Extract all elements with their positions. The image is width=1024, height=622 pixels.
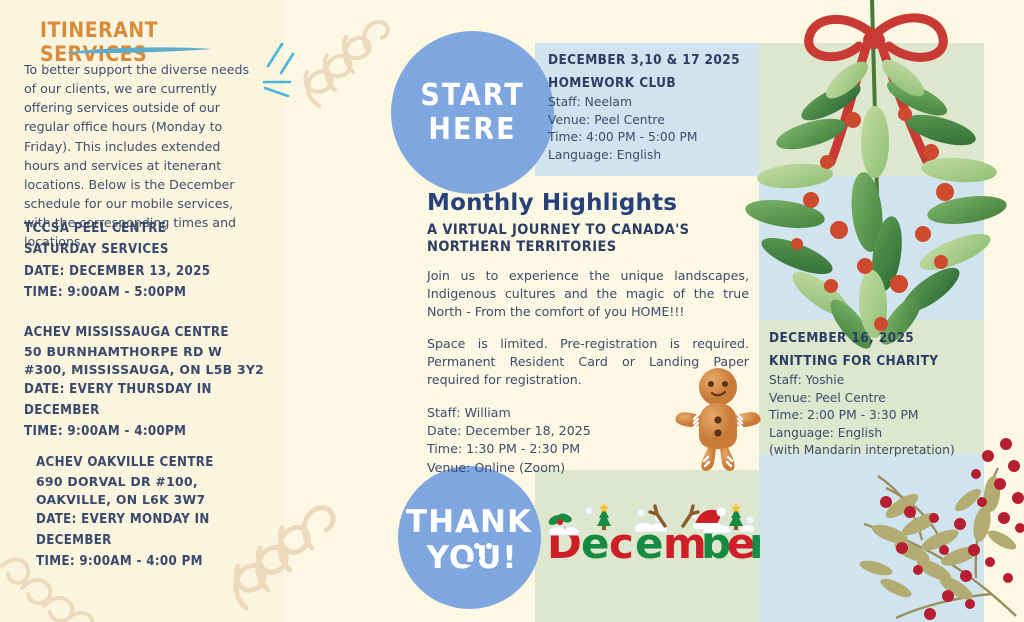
event-time: Time: 2:00 PM - 3:30 PM (769, 407, 979, 425)
highlights-date: Date: December 18, 2025 (427, 422, 749, 440)
highlights-venue: Venue: Online (Zoom) (427, 459, 749, 477)
event-time: Time: 4:00 PM - 5:00 PM (548, 129, 748, 147)
event-staff: Staff: Neelam (548, 94, 748, 112)
event-date: DECEMBER 16, 2025 (769, 330, 979, 346)
title-underline-brushstroke (62, 46, 214, 55)
location-block-oakville: ACHEV OAKVILLE CENTRE 690 DORVAL DR #100… (36, 452, 286, 573)
highlights-staff: Staff: William (427, 404, 749, 422)
event-title: KNITTING FOR CHARITY (769, 353, 979, 369)
location-name: TCCSA PEEL CENTRE (24, 218, 274, 239)
location-time: TIME: 9:00AM - 4:00PM (24, 421, 274, 442)
page-title: Itinerant Services (40, 18, 270, 66)
event-language-note: (with Mandarin interpretation) (769, 442, 979, 460)
panel-blue-bottom (759, 454, 984, 622)
monthly-highlights-heading: Monthly Highlights (427, 190, 749, 216)
monthly-highlights-section: Monthly Highlights A VIRTUAL JOURNEY TO … (427, 190, 749, 477)
location-address-line-2: OAKVILLE, ON L6K 3W7 (36, 491, 286, 509)
spiral-decoration-top (285, 2, 395, 112)
start-here-label: START HERE (420, 79, 524, 146)
event-staff: Staff: Yoshie (769, 372, 979, 390)
event-date: DECEMBER 3,10 & 17 2025 (548, 52, 748, 68)
event-language: Language: English (548, 147, 748, 165)
thank-you-label: THANK YOU! (398, 466, 541, 609)
event-venue: Venue: Peel Centre (548, 112, 748, 130)
thank-you-badge[interactable]: THANK YOU! (398, 466, 541, 609)
panel-green-bottom (535, 470, 759, 622)
location-address-line-1: 50 BURNHAMTHORPE RD W (24, 343, 274, 361)
highlights-time: Time: 1:30 PM - 2:30 PM (427, 440, 749, 458)
location-block-mississauga: ACHEV MISSISSAUGA CENTRE 50 BURNHAMTHORP… (24, 322, 274, 443)
monthly-highlights-subheading: A VIRTUAL JOURNEY TO CANADA'S NORTHERN T… (427, 222, 749, 257)
highlights-paragraph-2: Space is limited. Pre-registration is re… (427, 335, 749, 389)
event-card-knitting-for-charity: DECEMBER 16, 2025 KNITTING FOR CHARITY S… (769, 330, 979, 460)
location-date: DATE: EVERY MONDAY IN DECEMBER (36, 509, 286, 552)
thank-you-line2: YOU! (425, 540, 517, 576)
event-venue: Venue: Peel Centre (769, 390, 979, 408)
location-time: TIME: 9:00AM - 5:00PM (24, 282, 274, 303)
location-address-line-2: #300, MISSISSAUGA, ON L5B 3Y2 (24, 361, 274, 379)
location-date: DATE: EVERY THURSDAY IN DECEMBER (24, 379, 274, 422)
thank-you-line1: THANK (406, 504, 532, 540)
event-title: HOMEWORK CLUB (548, 75, 748, 91)
location-address-line-1: 690 DORVAL DR #100, (36, 473, 286, 491)
location-date: DATE: DECEMBER 13, 2025 (24, 261, 274, 282)
location-time: TIME: 9:00AM - 4:00 PM (36, 551, 286, 572)
event-language: Language: English (769, 425, 979, 443)
location-service: SATURDAY SERVICES (24, 239, 274, 260)
panel-blue-middle (759, 176, 984, 320)
event-card-homework-club: DECEMBER 3,10 & 17 2025 HOMEWORK CLUB St… (548, 52, 748, 164)
start-here-badge[interactable]: START HERE (391, 31, 554, 194)
location-block-peel: TCCSA PEEL CENTRE SATURDAY SERVICES DATE… (24, 218, 274, 304)
panel-green-top (759, 43, 984, 176)
poster-canvas: Itinerant Services To better support the… (0, 0, 1024, 622)
location-name: ACHEV OAKVILLE CENTRE (36, 452, 286, 473)
location-name: ACHEV MISSISSAUGA CENTRE (24, 322, 274, 343)
highlights-paragraph-1: Join us to experience the unique landsca… (427, 267, 749, 321)
